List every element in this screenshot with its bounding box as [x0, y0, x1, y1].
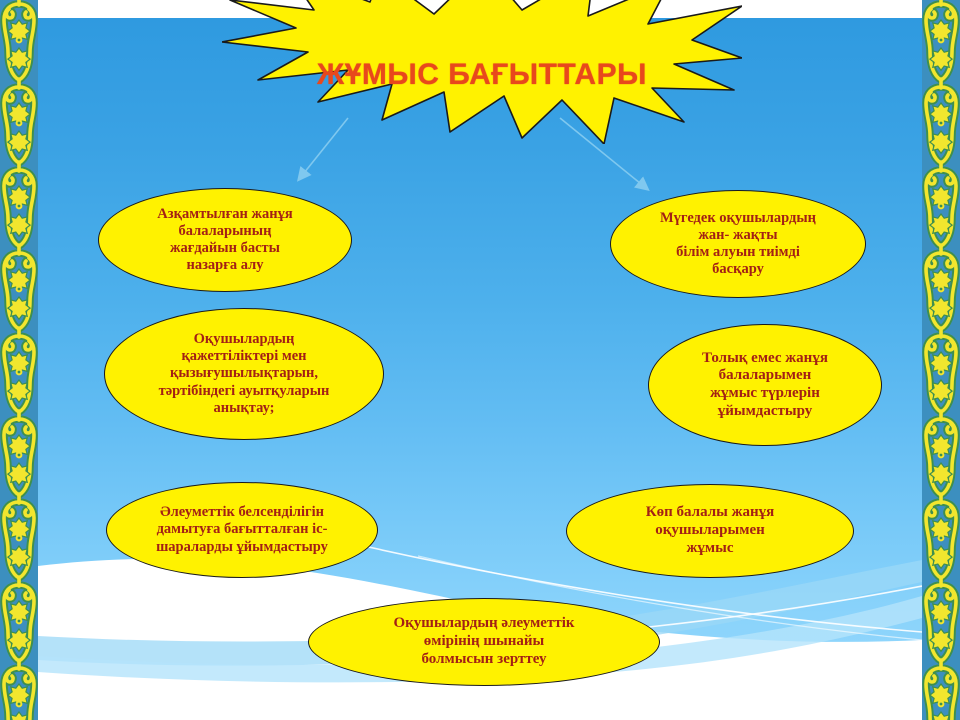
- title-starburst: ЖҰМЫС БАҒЫТТАРЫ: [222, 0, 742, 144]
- node-text: Әлеуметтік белсенділігіндамытуға бағытта…: [142, 504, 342, 555]
- node-large-families[interactable]: Көп балалы жанұяоқушыларыменжұмыс: [566, 484, 854, 578]
- node-text: Толық емес жанұябалаларыменжұмыс түрлері…: [688, 350, 842, 421]
- node-incomplete-families[interactable]: Толық емес жанұябалаларыменжұмыс түрлері…: [648, 324, 882, 446]
- node-text: Оқушылардың әлеуметтікөмірінің шынайыбол…: [379, 615, 588, 668]
- node-low-income-families[interactable]: Азқамтылған жанұябалаларыныңжағдайын бас…: [98, 188, 352, 292]
- node-text: Көп балалы жанұяоқушыларыменжұмыс: [632, 504, 788, 557]
- node-disabled-students[interactable]: Мүгедек оқушылардыңжан- жақтыбілім алуын…: [610, 190, 866, 298]
- node-social-activity-events[interactable]: Әлеуметтік белсенділігіндамытуға бағытта…: [106, 482, 378, 578]
- ornament-border-left: [0, 0, 38, 720]
- node-social-life-research[interactable]: Оқушылардың әлеуметтікөмірінің шынайыбол…: [308, 598, 660, 686]
- node-text: Мүгедек оқушылардыңжан- жақтыбілім алуын…: [646, 210, 830, 278]
- ornament-border-right: [922, 0, 960, 720]
- node-student-needs-interests[interactable]: Оқушылардыңқажеттіліктері менқызығушылық…: [104, 308, 384, 440]
- node-text: Азқамтылған жанұябалаларыныңжағдайын бас…: [143, 206, 306, 274]
- node-text: Оқушылардыңқажеттіліктері менқызығушылық…: [145, 331, 344, 417]
- presentation-slide: ЖҰМЫС БАҒЫТТАРЫ Азқамтылған жанұябалалар…: [0, 0, 960, 720]
